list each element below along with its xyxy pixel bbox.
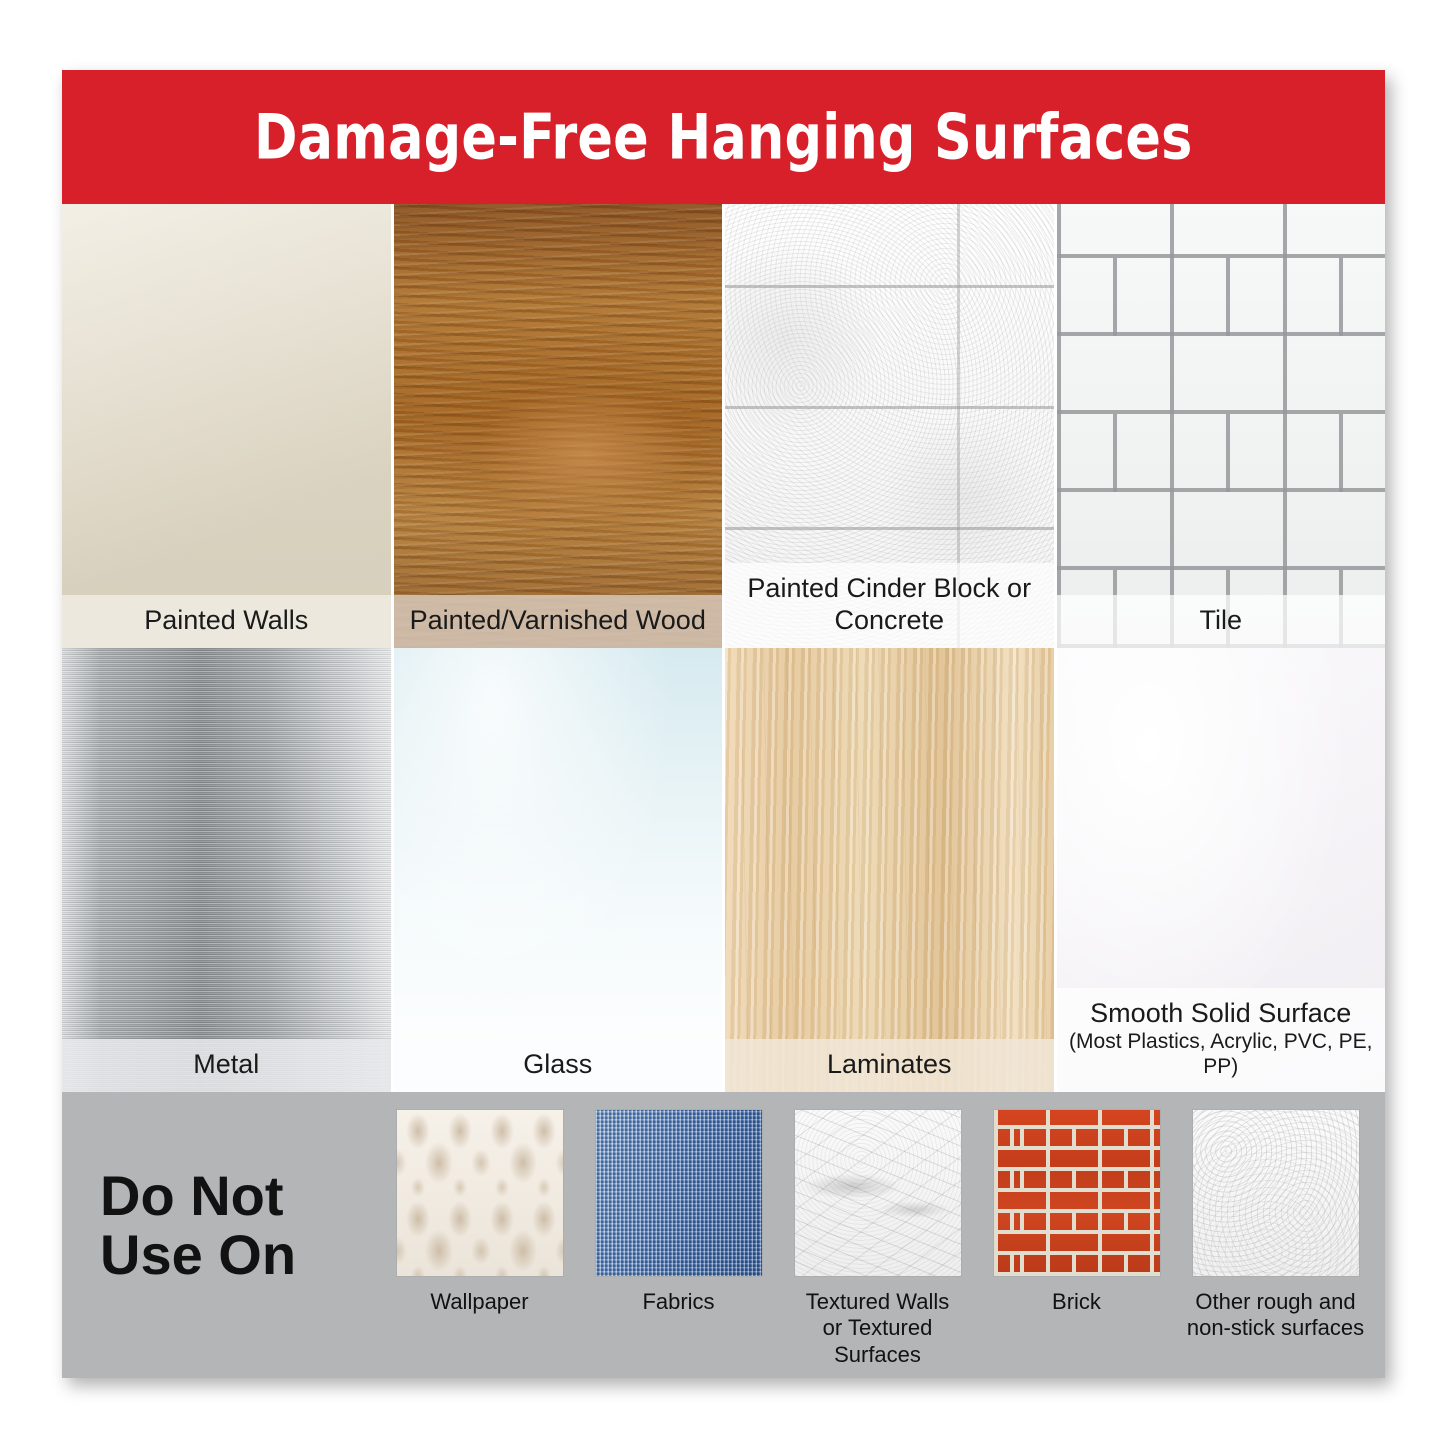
approved-surfaces-row-1: Painted Walls Painted/Varnished Wood Pai… [62, 204, 1385, 648]
do-not-use-caption-textured-walls-line2: or Textured Surfaces [779, 1315, 977, 1368]
do-not-use-caption-fabrics: Fabrics [580, 1289, 778, 1315]
surface-label-glass: Glass [394, 1039, 723, 1092]
subway-tile-texture [1057, 204, 1386, 648]
do-not-use-caption-wallpaper: Wallpaper [381, 1289, 579, 1315]
glass-texture [394, 648, 723, 1092]
red-brick-swatch [994, 1110, 1160, 1276]
surface-cell-painted-walls: Painted Walls [62, 204, 391, 648]
do-not-use-caption-textured-walls-line1: Textured Walls [779, 1289, 977, 1315]
do-not-use-caption-wallpaper-line1: Wallpaper [381, 1289, 579, 1315]
surface-label-smooth-solid-surface-sub: (Most Plastics, Acrylic, PVC, PE, PP) [1063, 1030, 1380, 1080]
surface-cell-smooth-solid-surface: Smooth Solid Surface (Most Plastics, Acr… [1054, 648, 1386, 1092]
do-not-use-item-brick: Brick [978, 1110, 1176, 1315]
do-not-use-title: Do Not Use On [100, 1166, 370, 1285]
surface-cell-glass: Glass [391, 648, 723, 1092]
do-not-use-caption-fabrics-line1: Fabrics [580, 1289, 778, 1315]
surface-label-painted-cinder-block: Painted Cinder Block or Concrete [725, 563, 1054, 648]
do-not-use-title-line2: Use On [100, 1225, 370, 1284]
surface-compatibility-poster: Damage-Free Hanging Surfaces Painted Wal… [62, 70, 1385, 1378]
surface-cell-laminates: Laminates [722, 648, 1054, 1092]
surface-cell-tile: Tile [1054, 204, 1386, 648]
do-not-use-caption-textured-walls: Textured Walls or Textured Surfaces [779, 1289, 977, 1368]
surface-cell-painted-varnished-wood: Painted/Varnished Wood [391, 204, 723, 648]
surface-label-painted-walls: Painted Walls [62, 595, 391, 648]
brushed-metal-texture [62, 648, 391, 1092]
do-not-use-item-wallpaper: Wallpaper [381, 1110, 579, 1315]
textured-wall-swatch [795, 1110, 961, 1276]
do-not-use-title-line1: Do Not [100, 1166, 370, 1225]
surface-label-metal: Metal [62, 1039, 391, 1092]
surface-label-smooth-solid-surface: Smooth Solid Surface (Most Plastics, Acr… [1057, 988, 1386, 1092]
surface-cell-metal: Metal [62, 648, 391, 1092]
do-not-use-caption-brick-line1: Brick [978, 1289, 1176, 1315]
surface-label-tile: Tile [1057, 595, 1386, 648]
surface-label-painted-varnished-wood: Painted/Varnished Wood [394, 595, 723, 648]
approved-surfaces-row-2: Metal Glass Laminates Smooth Solid Surfa… [62, 648, 1385, 1092]
surface-label-laminates: Laminates [725, 1039, 1054, 1092]
header-banner: Damage-Free Hanging Surfaces [62, 70, 1385, 204]
do-not-use-caption-rough-surfaces-line2: non-stick surfaces [1177, 1315, 1375, 1341]
page-title: Damage-Free Hanging Surfaces [62, 101, 1385, 174]
surface-cell-painted-cinder-block: Painted Cinder Block or Concrete [722, 204, 1054, 648]
do-not-use-caption-rough-surfaces: Other rough and non-stick surfaces [1177, 1289, 1375, 1342]
woven-fabric-swatch [596, 1110, 762, 1276]
wallpaper-damask-swatch [397, 1110, 563, 1276]
varnished-wood-texture [394, 204, 723, 648]
surface-label-smooth-solid-surface-main: Smooth Solid Surface [1090, 998, 1351, 1028]
do-not-use-section: Do Not Use On Wallpaper Fabrics Textured… [62, 1092, 1385, 1378]
light-oak-laminate-texture [725, 648, 1054, 1092]
do-not-use-caption-brick: Brick [978, 1289, 1176, 1315]
do-not-use-item-textured-walls: Textured Walls or Textured Surfaces [779, 1110, 977, 1368]
rough-surface-swatch [1193, 1110, 1359, 1276]
page-title-text: Damage-Free Hanging Surfaces [254, 101, 1193, 174]
painted-wall-texture [62, 204, 391, 648]
do-not-use-caption-rough-surfaces-line1: Other rough and [1177, 1289, 1375, 1315]
do-not-use-item-fabrics: Fabrics [580, 1110, 778, 1315]
do-not-use-item-rough-surfaces: Other rough and non-stick surfaces [1177, 1110, 1375, 1342]
do-not-use-items: Wallpaper Fabrics Textured Walls or Text… [370, 1092, 1385, 1368]
